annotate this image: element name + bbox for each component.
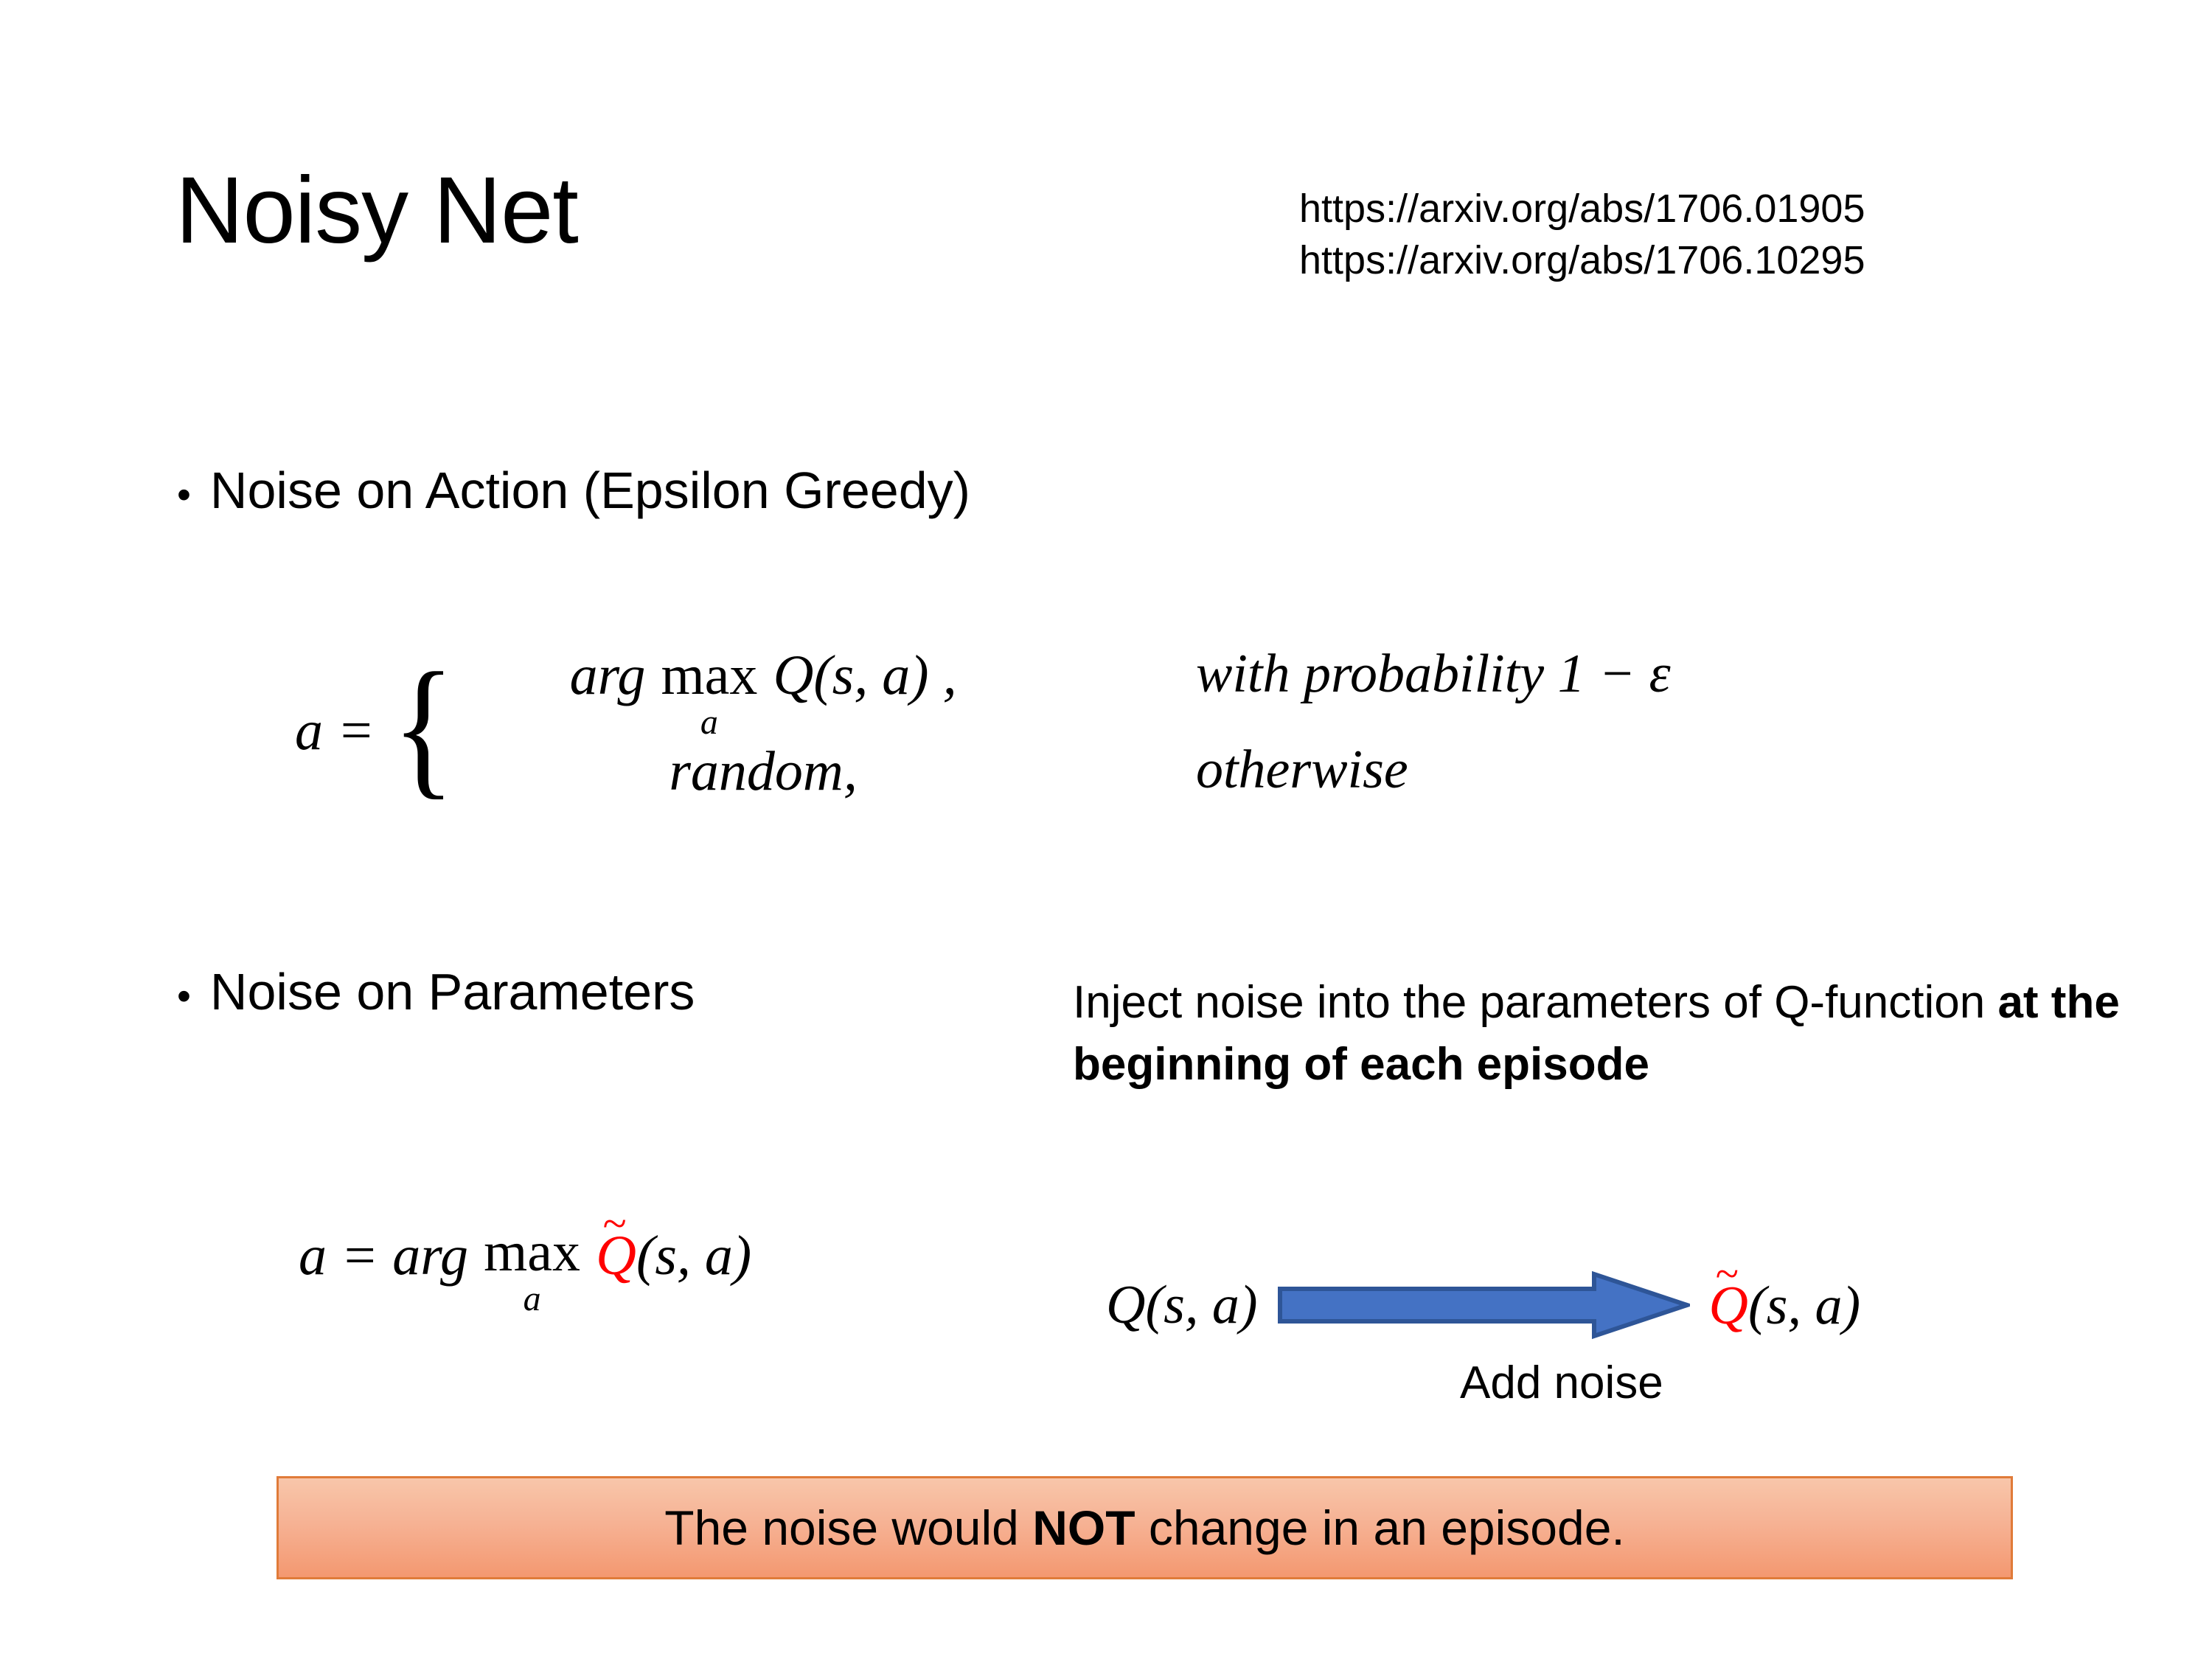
add-noise-caption: Add noise (1460, 1357, 1663, 1409)
case-body-greedy: arg max a Q(s, a) , (468, 643, 1058, 740)
case-random-suffix: random, (669, 740, 857, 802)
bullet-noise-on-action-label: Noise on Action (Epsilon Greedy) (210, 465, 970, 516)
case-condition-greedy: with probability 1 − ε (1196, 643, 1671, 723)
argmax-subscript-2: a (524, 1281, 541, 1317)
bullet-marker-icon-2: • (177, 976, 191, 1016)
reference-links: https://arxiv.org/abs/1706.01905 https:/… (1299, 183, 1865, 286)
callout-text-after: change in an episode. (1135, 1500, 1625, 1555)
right-arrow-icon (1277, 1270, 1690, 1340)
equation-epsilon-greedy: a = { arg max a Q(s, a) , random, (295, 643, 1058, 818)
page-title: Noisy Net (175, 164, 578, 258)
q-noisy-label: ~ Q (s, a) (1709, 1273, 1861, 1338)
argmax-op-label-1: max (661, 647, 758, 703)
callout-text: The noise would NOT change in an episode… (664, 1500, 1625, 1556)
case-row-random: random, (468, 739, 1058, 818)
add-noise-arrow (1277, 1270, 1690, 1340)
callout-text-bold: NOT (1032, 1500, 1135, 1555)
slide-canvas: Noisy Net https://arxiv.org/abs/1706.019… (0, 0, 2212, 1659)
case-greedy-suffix: Q(s, a) , (773, 644, 956, 706)
q-original-label: Q(s, a) (1106, 1274, 1258, 1337)
inject-noise-note: Inject noise into the parameters of Q-fu… (1073, 972, 2135, 1096)
q-args-original: (s, a) (1145, 1275, 1257, 1335)
tilde-accent-icon-1: ~ (603, 1202, 627, 1245)
callout-text-before: The noise would (664, 1500, 1032, 1555)
bullet-noise-on-action: • Noise on Action (Epsilon Greedy) (177, 465, 970, 516)
case-body-random: random, (468, 739, 1058, 804)
q-tilde-symbol-diagram: ~ Q (1709, 1275, 1748, 1338)
reference-link-2[interactable]: https://arxiv.org/abs/1706.10295 (1299, 234, 1865, 286)
case-condition-otherwise: otherwise (1196, 739, 1671, 818)
equation-noisy-lhs: a = arg (299, 1224, 468, 1288)
bullet-noise-on-parameters: • Noise on Parameters (177, 966, 695, 1018)
argmax-op-label-2: max (484, 1224, 580, 1280)
q-args-equation: (s, a) (636, 1224, 751, 1288)
inject-noise-note-plain: Inject noise into the parameters of Q-fu… (1073, 977, 1997, 1028)
case-row-greedy: arg max a Q(s, a) , (468, 643, 1058, 723)
reference-link-1[interactable]: https://arxiv.org/abs/1706.01905 (1299, 183, 1865, 234)
equation-epsilon-greedy-lhs: a = (295, 699, 375, 763)
q-args-noisy: (s, a) (1748, 1276, 1860, 1336)
equation-noisy-argmax: a = arg max a ~ Q (s, a) (299, 1224, 751, 1317)
argmax-subscript-1: a (700, 705, 718, 740)
bullet-marker-icon: • (177, 475, 191, 515)
q-tilde-symbol-equation: ~ Q (596, 1224, 636, 1288)
case-rows: arg max a Q(s, a) , random, (468, 643, 1058, 818)
case-conditions: with probability 1 − ε otherwise (1196, 643, 1671, 818)
argmax-operator-1: max a (661, 647, 758, 740)
case-brace: { (392, 672, 456, 783)
add-noise-diagram: Q(s, a) ~ Q (s, a) (1106, 1270, 1860, 1340)
tilde-accent-icon-2: ~ (1716, 1253, 1739, 1296)
argmax-operator-2: max a (484, 1224, 580, 1317)
case-greedy-prefix: arg (570, 644, 646, 706)
q-letter-original: Q (1106, 1275, 1145, 1335)
callout-box: The noise would NOT change in an episode… (276, 1476, 2013, 1579)
bullet-noise-on-parameters-label: Noise on Parameters (210, 966, 695, 1018)
